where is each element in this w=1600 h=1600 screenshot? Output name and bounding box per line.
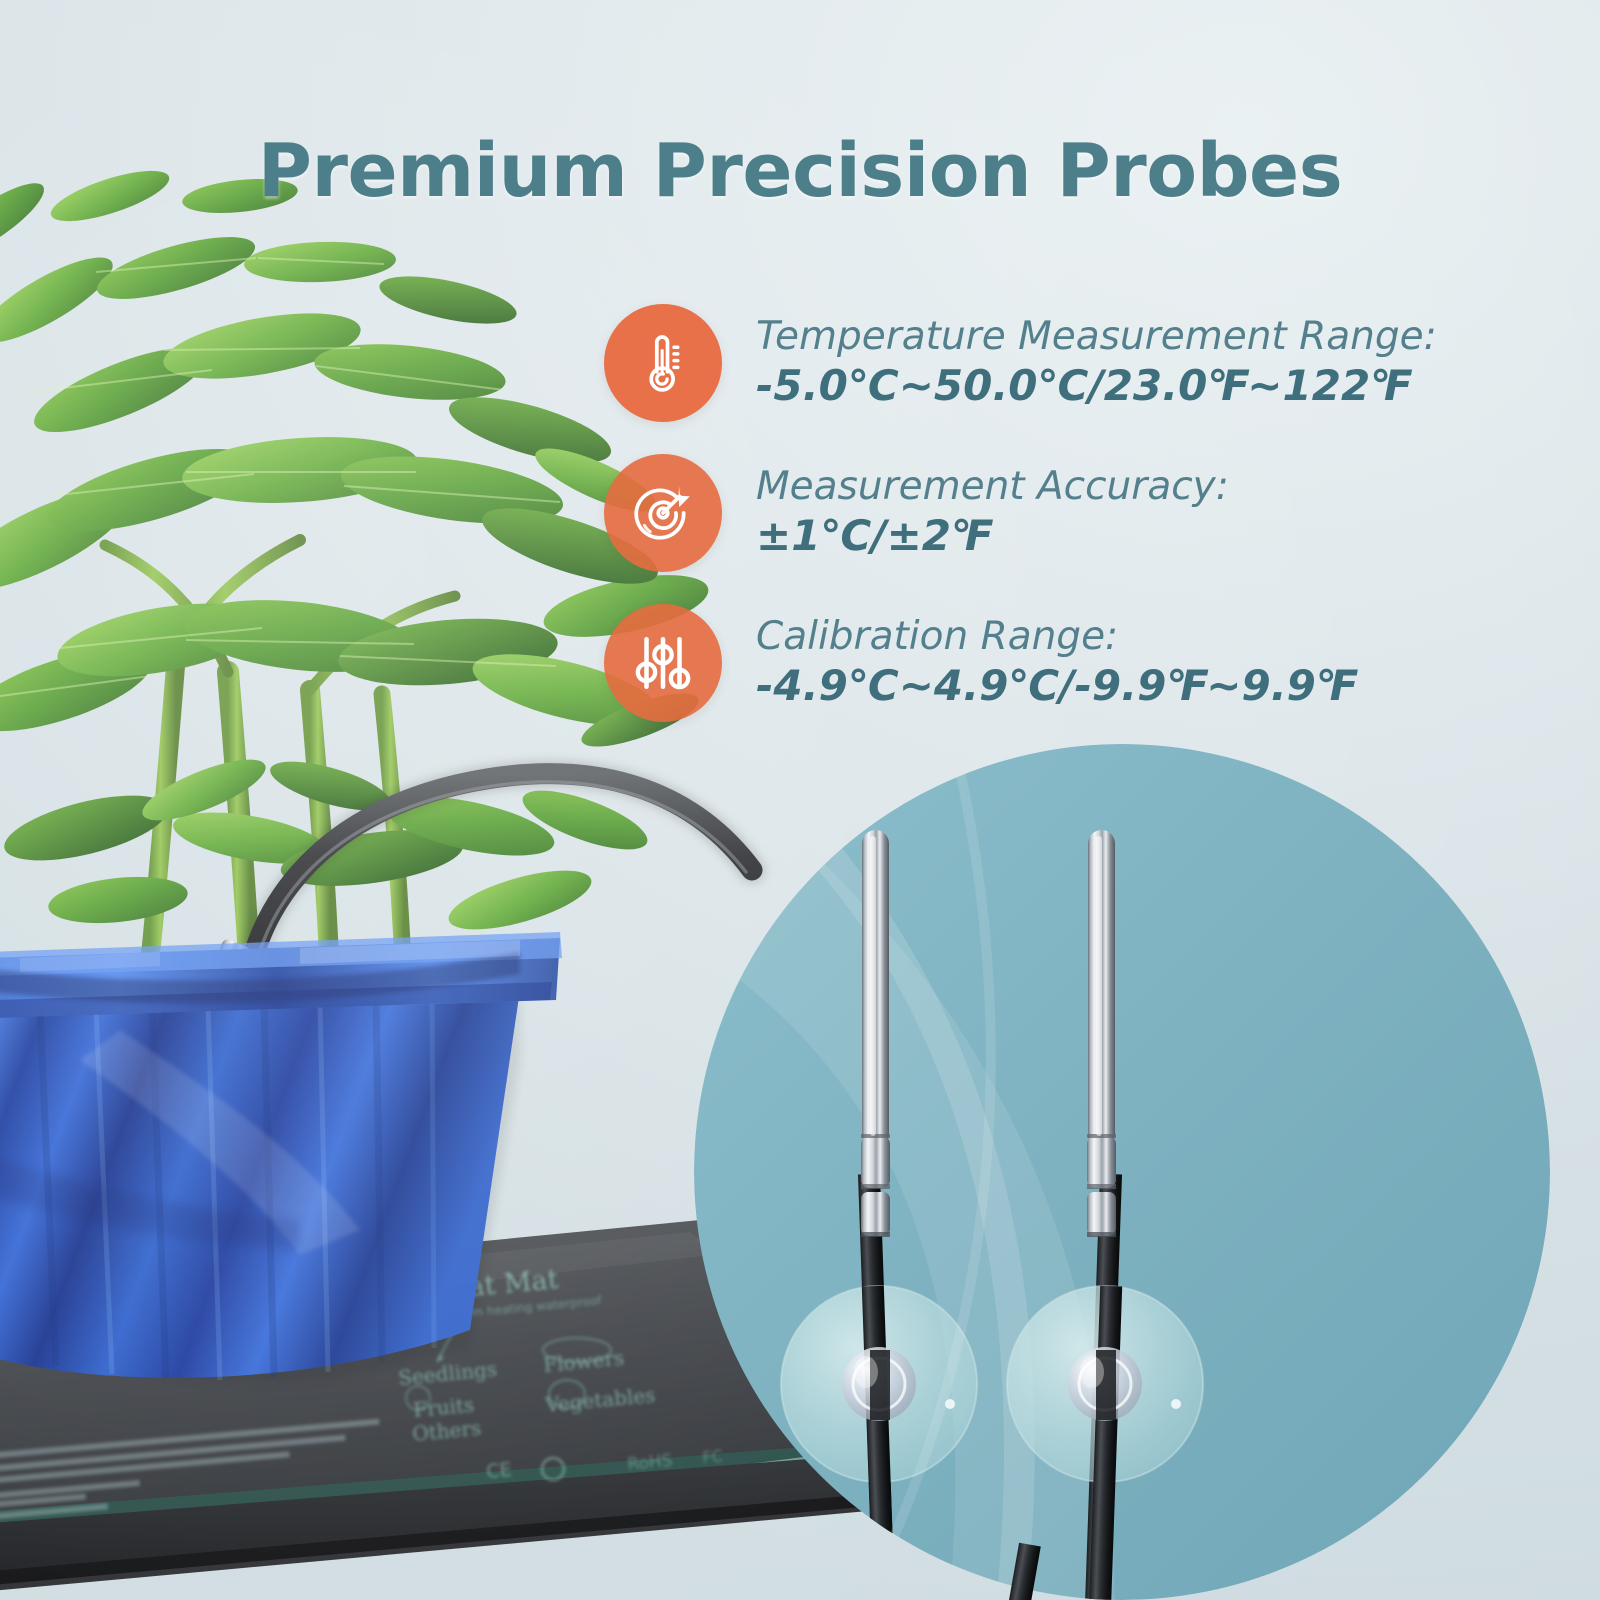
feature-value: ±1℃/±2℉ xyxy=(756,512,1229,560)
feature-text-temperature: Temperature Measurement Range: -5.0℃~50.… xyxy=(756,316,1437,409)
feature-row-accuracy: Measurement Accuracy: ±1℃/±2℉ xyxy=(604,438,1464,588)
feature-row-calibration: Calibration Range: -4.9℃~4.9℃/-9.9℉~9.9℉ xyxy=(604,588,1464,738)
target-accuracy-icon xyxy=(630,480,696,546)
feature-list: Temperature Measurement Range: -5.0℃~50.… xyxy=(604,288,1464,738)
feature-badge-calibration xyxy=(604,604,722,722)
feature-row-temperature-range: Temperature Measurement Range: -5.0℃~50.… xyxy=(604,288,1464,438)
thermometer-icon xyxy=(630,330,696,396)
cup-hub-left xyxy=(842,1347,916,1421)
feature-badge-accuracy xyxy=(604,454,722,572)
feature-label: Measurement Accuracy: xyxy=(756,466,1229,507)
feature-value: -4.9℃~4.9℃/-9.9℉~9.9℉ xyxy=(756,662,1356,710)
feature-label: Calibration Range: xyxy=(756,616,1356,657)
feature-label: Temperature Measurement Range: xyxy=(756,316,1437,357)
calibration-sliders-icon xyxy=(630,630,696,696)
feature-badge-temperature xyxy=(604,304,722,422)
probe-detail-circle xyxy=(694,744,1550,1600)
feature-text-accuracy: Measurement Accuracy: ±1℃/±2℉ xyxy=(756,466,1229,559)
page-title: Premium Precision Probes xyxy=(0,128,1600,214)
infographic-canvas: Heat Mat Uniform heating waterproof Seed… xyxy=(0,0,1600,1600)
feature-value: -5.0℃~50.0℃/23.0℉~122℉ xyxy=(756,362,1437,410)
cup-hub-right xyxy=(1068,1347,1142,1421)
feature-text-calibration: Calibration Range: -4.9℃~4.9℃/-9.9℉~9.9℉ xyxy=(756,616,1356,709)
